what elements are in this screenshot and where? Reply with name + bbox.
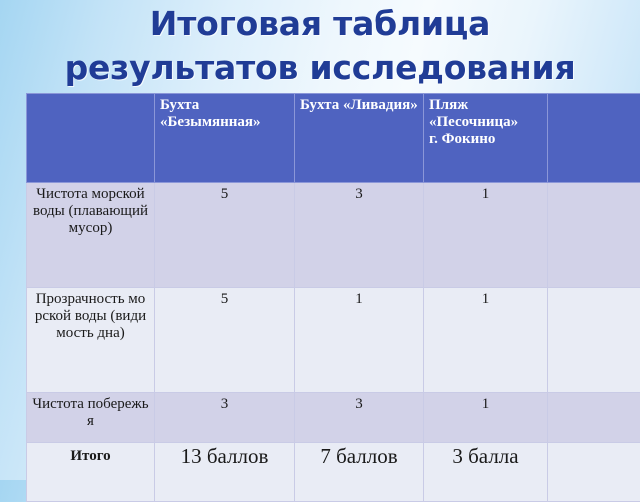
cell-total-bezymyannaya: 13 баллов	[155, 443, 295, 502]
cell-coast-cleanliness-pesochnitsa: 1	[424, 393, 548, 443]
row-label-coast-cleanliness: Чистота побережья	[27, 393, 155, 443]
table-body: Чистота морской воды (плавающий мусор) 5…	[27, 183, 640, 502]
cell-water-transparency-bezymyannaya: 5	[155, 288, 295, 393]
column-header-extra	[548, 94, 640, 183]
cell-water-cleanliness-pesochnitsa: 1	[424, 183, 548, 288]
table-row: Прозрачность морской воды (видимость дна…	[27, 288, 640, 393]
cell-total-livadiya: 7 баллов	[295, 443, 424, 502]
table-header-row: Бухта «Безымянная» Бухта «Ливадия» Пляж …	[27, 94, 640, 183]
cell-water-transparency-pesochnitsa: 1	[424, 288, 548, 393]
cell-water-cleanliness-livadiya: 3	[295, 183, 424, 288]
cell-total-extra	[548, 443, 640, 502]
table-row: Чистота морской воды (плавающий мусор) 5…	[27, 183, 640, 288]
cell-total-pesochnitsa: 3 балла	[424, 443, 548, 502]
cell-coast-cleanliness-extra	[548, 393, 640, 443]
column-header-plyazh-pesochnitsa: Пляж «Песочница» г. Фокино	[424, 94, 548, 183]
row-label-water-cleanliness: Чистота морской воды (плавающий мусор)	[27, 183, 155, 288]
column-header-criteria	[27, 94, 155, 183]
column-header-bukhta-livadiya: Бухта «Ливадия»	[295, 94, 424, 183]
row-label-total: Итого	[27, 443, 155, 502]
results-table: Бухта «Безымянная» Бухта «Ливадия» Пляж …	[26, 93, 640, 502]
table-row-total: Итого 13 баллов 7 баллов 3 балла	[27, 443, 640, 502]
table-row: Чистота побережья 3 3 1	[27, 393, 640, 443]
column-header-bukhta-bezymyannaya: Бухта «Безымянная»	[155, 94, 295, 183]
cell-water-cleanliness-bezymyannaya: 5	[155, 183, 295, 288]
cell-coast-cleanliness-bezymyannaya: 3	[155, 393, 295, 443]
cell-water-cleanliness-extra	[548, 183, 640, 288]
cell-water-transparency-livadiya: 1	[295, 288, 424, 393]
cell-coast-cleanliness-livadiya: 3	[295, 393, 424, 443]
cell-water-transparency-extra	[548, 288, 640, 393]
row-label-water-transparency: Прозрачность морской воды (видимость дна…	[27, 288, 155, 393]
table-header: Бухта «Безымянная» Бухта «Ливадия» Пляж …	[27, 94, 640, 183]
page-title: Итоговая таблица результатов исследовани…	[0, 2, 640, 90]
